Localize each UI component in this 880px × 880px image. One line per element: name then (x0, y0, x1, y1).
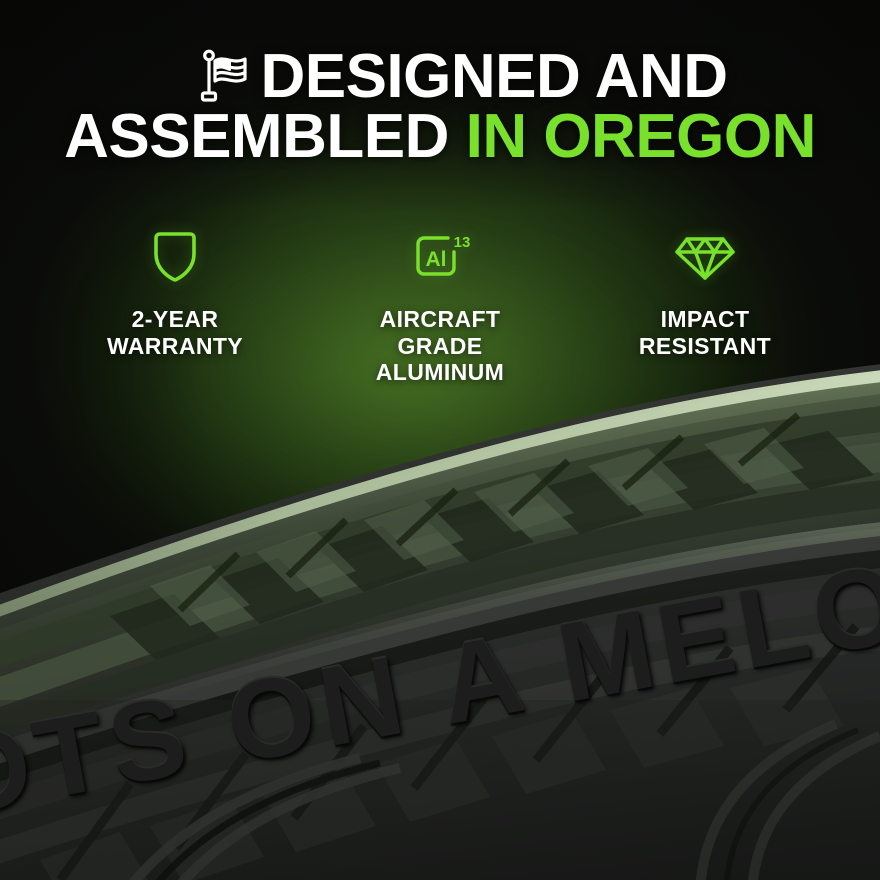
feature-impact-label-line-2: RESISTANT (590, 333, 820, 360)
feature-warranty-label: 2-YEAR WARRANTY (60, 306, 290, 359)
feature-aluminum: Al 13 AIRCRAFT GRADE ALUMINUM (325, 232, 555, 386)
svg-text:Al: Al (426, 248, 447, 271)
feature-warranty-icon-wrap (60, 232, 290, 284)
feature-warranty: 2-YEAR WARRANTY (60, 232, 290, 386)
headline-line-2: ASSEMBLED IN OREGON (0, 108, 880, 166)
feature-impact-label-line-1: IMPACT (590, 306, 820, 333)
feature-aluminum-label-line-1: AIRCRAFT (325, 306, 555, 333)
headline-line-1: DESIGNED AND (0, 48, 880, 106)
feature-list: 2-YEAR WARRANTY Al 13 AIRCRAFT GRADE AL (60, 232, 820, 386)
headline-text-designed-and: DESIGNED AND (260, 42, 727, 111)
headline-text-assembled: ASSEMBLED (64, 102, 449, 171)
feature-warranty-label-line-1: 2-YEAR (60, 306, 290, 333)
marketing-poster: OTS ON A MELON DESIGNED AND ASSE (0, 0, 880, 880)
feature-impact-label: IMPACT RESISTANT (590, 306, 820, 359)
diamond-icon (674, 231, 736, 286)
us-flag-icon (200, 49, 252, 103)
feature-warranty-label-line-2: WARRANTY (60, 333, 290, 360)
feature-aluminum-label: AIRCRAFT GRADE ALUMINUM (325, 306, 555, 386)
headline: DESIGNED AND ASSEMBLED IN OREGON (0, 48, 880, 167)
svg-text:13: 13 (454, 234, 470, 251)
feature-impact-icon-wrap (590, 232, 820, 284)
feature-aluminum-label-line-3: ALUMINUM (325, 359, 555, 386)
feature-aluminum-icon-wrap: Al 13 (325, 232, 555, 284)
shield-icon (150, 228, 200, 289)
feature-impact: IMPACT RESISTANT (590, 232, 820, 386)
aluminum-element-icon: Al 13 (410, 230, 470, 287)
headline-text-in-oregon: IN OREGON (466, 102, 816, 171)
feature-aluminum-label-line-2: GRADE (325, 333, 555, 360)
